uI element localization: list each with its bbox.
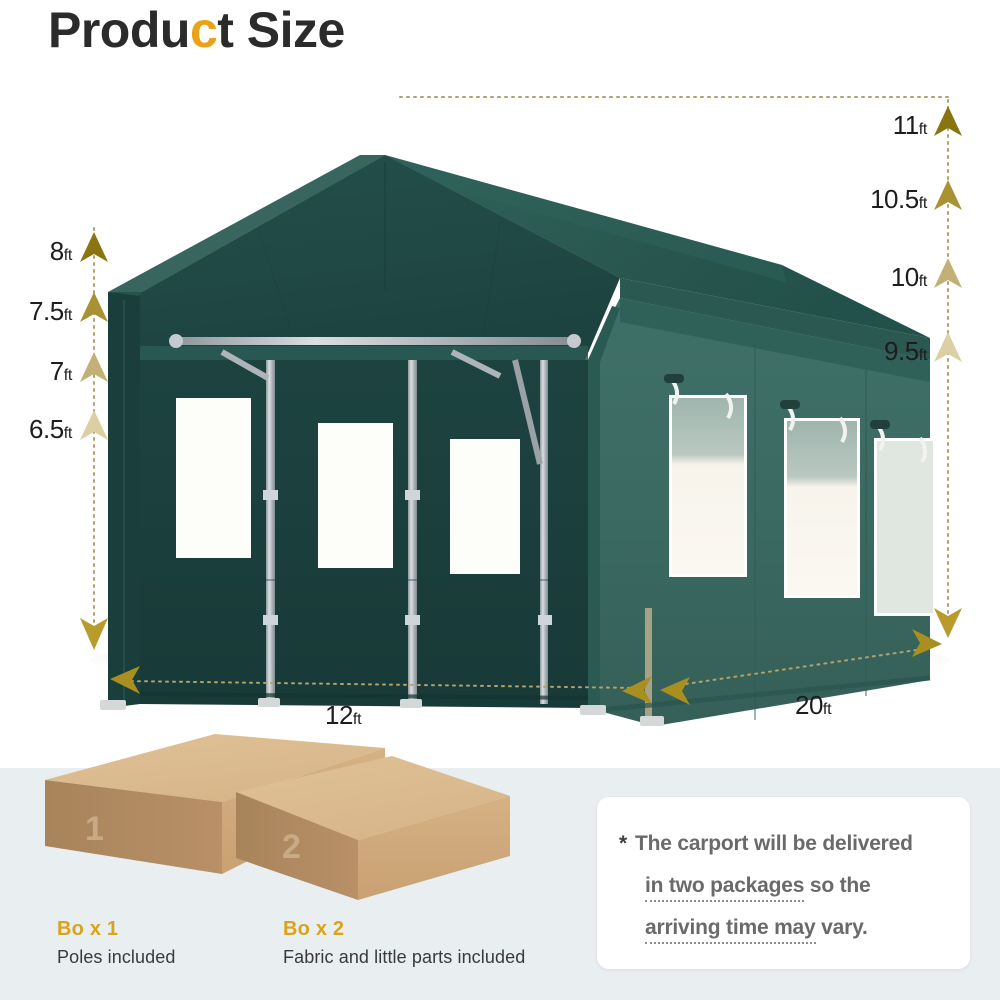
shipping-boxes-illustration: 1 2: [40, 730, 560, 920]
dim-label-right-4: 9.5ft: [845, 336, 927, 367]
dim-label-left-3: 7ft: [10, 356, 72, 387]
pole-collar-3: [263, 615, 278, 625]
asterisk-icon: *: [619, 832, 627, 855]
side-window-1: [669, 395, 747, 577]
frame-pole-2: [408, 360, 417, 704]
pole-collar-4: [405, 615, 420, 625]
box-caption-2: Bo x 2 Fabric and little parts included: [283, 918, 525, 968]
note-line-2: in two packages so the: [619, 865, 954, 907]
side-window-2: [784, 418, 860, 598]
front-window-2: [318, 423, 393, 568]
box-2-title: Bo x 2: [283, 918, 525, 941]
tick-left-6-5ft: [80, 410, 108, 440]
carport-diagram: [0, 60, 1000, 770]
note-line-2-rest: so the: [804, 874, 870, 897]
dim-label-left-4: 6.5ft: [0, 414, 72, 445]
box-1-subtitle: Poles included: [57, 947, 175, 968]
gable-panel: [135, 155, 620, 360]
side-window-3: [874, 438, 936, 616]
note-line-2-underlined: in two packages: [645, 874, 804, 902]
frame-pole-3: [540, 360, 548, 704]
corner-zipper: [645, 608, 652, 726]
product-size-infographic: Product Size: [0, 0, 1000, 1000]
tick-left-7-5ft: [80, 292, 108, 322]
title-suffix: t Size: [217, 2, 345, 58]
dim-label-right-1: 11ft: [855, 110, 927, 141]
delivery-note-text: *The carport will be delivered in two pa…: [619, 823, 954, 949]
tick-right-11ft: [934, 106, 962, 136]
pole-collar-2: [405, 490, 420, 500]
rail-cap-left: [169, 334, 183, 348]
tick-right-9-5ft: [934, 332, 962, 362]
dim-label-right-3: 10ft: [855, 262, 927, 293]
box2-number: 2: [282, 828, 301, 866]
dim-label-width-front: 12ft: [325, 700, 361, 731]
dim-label-right-2: 10.5ft: [845, 184, 927, 215]
delivery-note-card: *The carport will be delivered in two pa…: [597, 797, 970, 969]
title-accent-letter: c: [190, 2, 217, 58]
front-window-3: [450, 439, 520, 574]
dim-label-width-side: 20ft: [795, 690, 831, 721]
frame-top-rail: [176, 337, 576, 345]
note-line-3-rest: vary.: [816, 916, 868, 939]
note-line-3: arriving time may vary.: [619, 907, 954, 949]
note-line-1: *The carport will be delivered: [619, 823, 954, 865]
dim-label-left-2: 7.5ft: [0, 296, 72, 327]
packaging-panel: 1 2 Bo x 1 Poles included Bo x 2 Fabric …: [0, 768, 1000, 1000]
rail-cap-right: [567, 334, 581, 348]
front-eave-beam: [140, 346, 588, 362]
note-line-3-underlined: arriving time may: [645, 916, 816, 944]
page-title: Product Size: [48, 2, 345, 60]
dim-label-left-1: 8ft: [10, 236, 72, 267]
pole-collar-5: [538, 615, 552, 625]
note-line-1-text: The carport will be delivered: [635, 832, 913, 855]
box-2-subtitle: Fabric and little parts included: [283, 947, 525, 968]
frame-pole-1: [266, 360, 275, 704]
title-prefix: Produ: [48, 2, 190, 58]
carport-illustration: 11ft 10.5ft 10ft 9.5ft 8ft 7.5ft 7ft 6.5…: [0, 60, 1000, 770]
box-caption-1: Bo x 1 Poles included: [57, 918, 175, 968]
pole-collar-1: [263, 490, 278, 500]
box1-number: 1: [85, 810, 104, 848]
front-window-1: [176, 398, 251, 558]
box-1-title: Bo x 1: [57, 918, 175, 941]
